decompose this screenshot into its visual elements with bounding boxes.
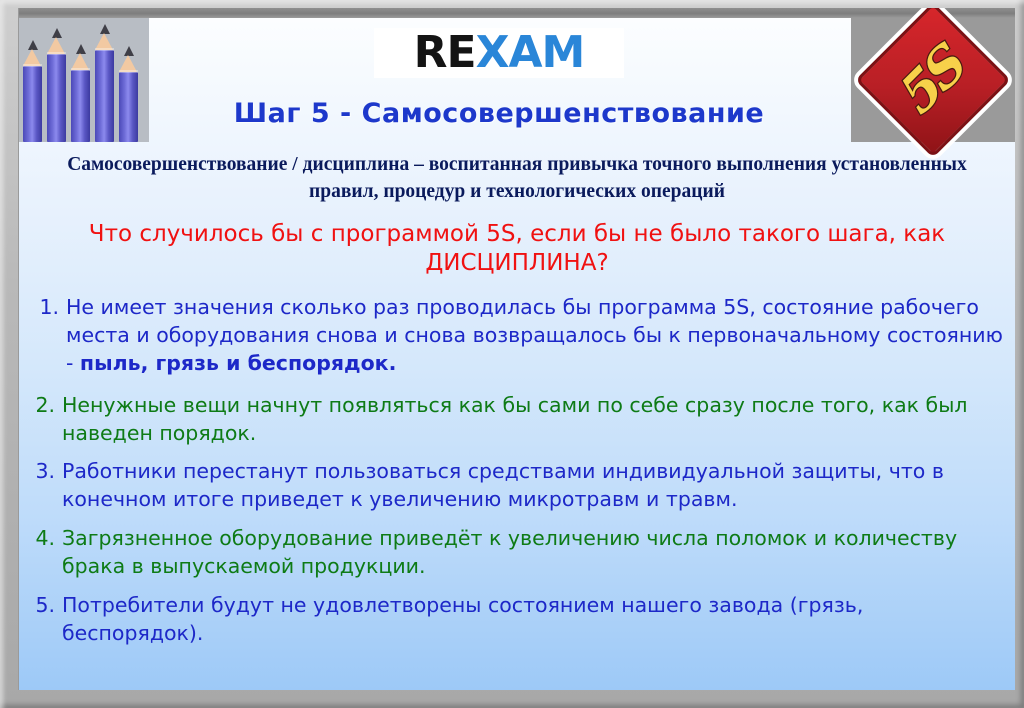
5s-logo-text: 5S: [893, 37, 974, 123]
consequences-list: 1. Не имеет значения сколько раз проводи…: [29, 294, 1005, 659]
list-item-number: 2.: [29, 392, 62, 420]
list-item-text: Работники перестанут пользоваться средст…: [62, 458, 1005, 514]
rexam-wordmark-accent: XAM: [476, 27, 585, 78]
list-item-number: 3.: [29, 458, 62, 486]
list-item-emphasis: пыль, грязь и беспорядок.: [80, 351, 396, 375]
slide-header: REXAM 5S Шаг 5 - Самосовершенствование: [19, 18, 1015, 142]
list-item-number: 5.: [29, 592, 62, 620]
rexam-wordmark-dark: RE: [414, 27, 476, 78]
slide-canvas: REXAM 5S Шаг 5 - Самосовершенствование С…: [18, 8, 1015, 690]
list-item: 2. Ненужные вещи начнут появляться как б…: [29, 392, 1005, 448]
list-item: 3. Работники перестанут пользоваться сре…: [29, 458, 1005, 514]
5s-logo-inner: 5S: [859, 8, 1006, 154]
slide-outer-frame: REXAM 5S Шаг 5 - Самосовершенствование С…: [0, 0, 1024, 708]
pencils-photo: [19, 18, 149, 142]
slide-body: Самосовершенствование / дисциплина – вос…: [19, 142, 1015, 690]
list-item-text: Ненужные вещи начнут появляться как бы с…: [62, 392, 1005, 448]
question-text: Что случилось бы с программой 5S, если б…: [43, 220, 991, 278]
rexam-logo: REXAM: [374, 28, 624, 78]
list-item-text: Потребители будут не удовлетворены состо…: [62, 592, 1005, 648]
definition-text: Самосовершенствование / дисциплина – вос…: [55, 152, 979, 206]
5s-logo-block: 5S: [851, 18, 1015, 142]
rexam-wordmark: REXAM: [414, 31, 585, 75]
list-item-number: 4.: [29, 525, 62, 553]
list-item: 4. Загрязненное оборудование приведёт к …: [29, 525, 1005, 581]
list-item-text: Загрязненное оборудование приведёт к уве…: [62, 525, 1005, 581]
slide-title: Шаг 5 - Самосовершенствование: [149, 98, 849, 129]
list-item-text: Не имеет значения сколько раз проводилас…: [66, 294, 1005, 378]
list-item-number: 1.: [29, 294, 66, 322]
slide-top-strip: [19, 8, 1015, 18]
list-item: 1. Не имеет значения сколько раз проводи…: [29, 294, 1005, 378]
list-item: 5. Потребители будут не удовлетворены со…: [29, 592, 1005, 648]
